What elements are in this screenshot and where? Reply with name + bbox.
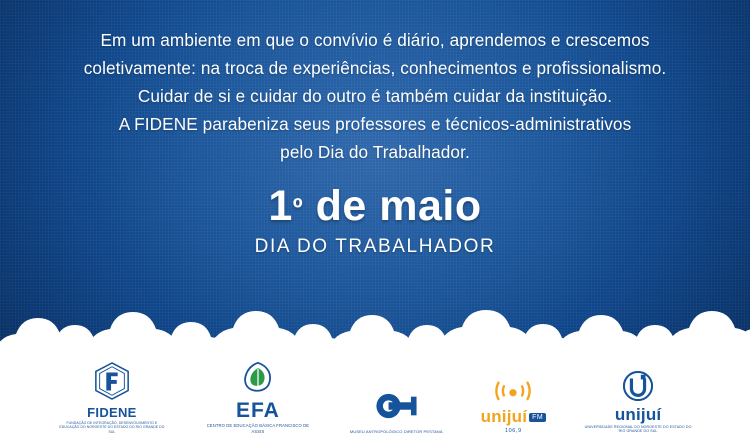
radio-waves-icon <box>493 377 533 408</box>
poster-subheadline: DIA DO TRABALHADOR <box>0 236 750 258</box>
unijui-fm-name: unijuí <box>481 407 528 426</box>
efa-tagline: CENTRO DE EDUCAÇÃO BÁSICA FRANCISCO DE A… <box>204 423 312 434</box>
logo-strip: FIDENE FUNDAÇÃO DE INTEGRAÇÃO, DESENVOLV… <box>0 362 750 436</box>
poster-headline: 1º de maio <box>0 182 750 230</box>
headline-number: 1 <box>268 182 292 230</box>
efa-name: EFA <box>236 400 280 421</box>
fidene-monogram-icon <box>93 362 131 405</box>
poster-canvas: Em um ambiente em que o convívio é diári… <box>0 0 750 442</box>
logo-efa: EFA CENTRO DE EDUCAÇÃO BÁSICA FRANCISCO … <box>204 364 312 434</box>
logo-unijui: unijuí UNIVERSIDADE REGIONAL DO NOROESTE… <box>584 364 692 434</box>
efa-leaf-icon <box>240 361 276 400</box>
headline-ordinal: º <box>293 193 303 223</box>
message-line-5: pelo Dia do Trabalhador. <box>0 138 750 166</box>
museu-tagline: MUSEU ANTROPOLÓGICO DIRETOR PESTANA <box>350 429 443 434</box>
headline-block: 1º de maio DIA DO TRABALHADOR <box>0 182 750 258</box>
message-line-1: Em um ambiente em que o convívio é diári… <box>0 26 750 54</box>
fidene-name: FIDENE <box>87 406 136 419</box>
headline-rest: de maio <box>303 182 481 230</box>
unijui-name: unijuí <box>615 406 662 423</box>
fidene-tagline: FUNDAÇÃO DE INTEGRAÇÃO, DESENVOLVIMENTO … <box>58 421 166 434</box>
poster-message: Em um ambiente em que o convívio é diári… <box>0 26 750 166</box>
logo-museu: MUSEU ANTROPOLÓGICO DIRETOR PESTANA <box>350 364 443 434</box>
museu-circle-icon <box>368 391 424 426</box>
logo-unijui-fm: unijuíFM 106,9 <box>481 364 546 434</box>
message-line-3: Cuidar de si e cuidar do outro é também … <box>0 82 750 110</box>
unijui-u-icon <box>623 371 653 406</box>
unijui-fm-badge: FM <box>529 413 546 422</box>
unijui-fm-frequency: 106,9 <box>505 428 522 434</box>
message-line-2: coletivamente: na troca de experiências,… <box>0 54 750 82</box>
logo-fidene: FIDENE FUNDAÇÃO DE INTEGRAÇÃO, DESENVOLV… <box>58 364 166 434</box>
message-line-4: A FIDENE parabeniza seus professores e t… <box>0 110 750 138</box>
unijui-tagline: UNIVERSIDADE REGIONAL DO NOROESTE DO EST… <box>584 425 692 434</box>
